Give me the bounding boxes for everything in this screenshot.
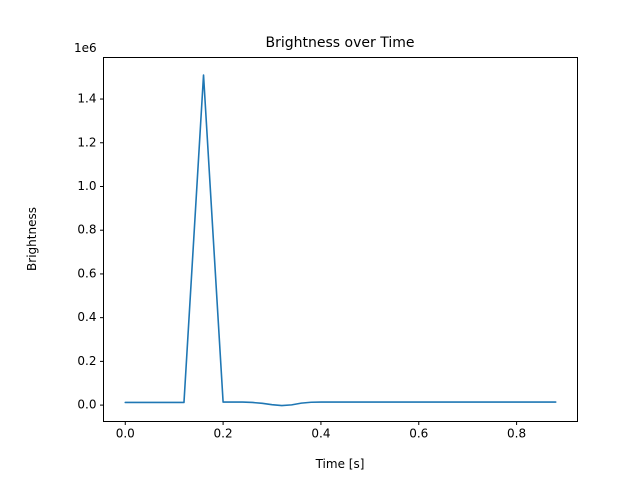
x-tick-label: 0.6 — [409, 426, 428, 440]
y-tick-label: 1.2 — [77, 135, 96, 149]
y-axis-label: Brightness — [25, 207, 39, 271]
x-axis-label: Time [s] — [315, 457, 365, 471]
y-axis-offset-text: 1e6 — [74, 41, 97, 55]
y-tick-label: 0.2 — [77, 354, 96, 368]
y-tick-label: 1.4 — [77, 92, 96, 106]
y-tick-label: 0.0 — [77, 398, 96, 412]
x-tick-label: 0.4 — [311, 426, 330, 440]
x-tick-label: 0.8 — [507, 426, 526, 440]
chart-title: Brightness over Time — [266, 35, 415, 51]
chart-canvas: 1e6 Brightness over Time Time [s] Bright… — [0, 0, 640, 480]
y-tick-label: 0.8 — [77, 223, 96, 237]
y-tick-label: 0.4 — [77, 310, 96, 324]
y-tick-label: 1.0 — [77, 179, 96, 193]
x-tick-label: 0.0 — [116, 426, 135, 440]
y-tick-label: 0.6 — [77, 266, 96, 280]
x-tick-label: 0.2 — [214, 426, 233, 440]
matplotlib-figure: 1e6 Brightness over Time Time [s] Bright… — [0, 0, 640, 480]
